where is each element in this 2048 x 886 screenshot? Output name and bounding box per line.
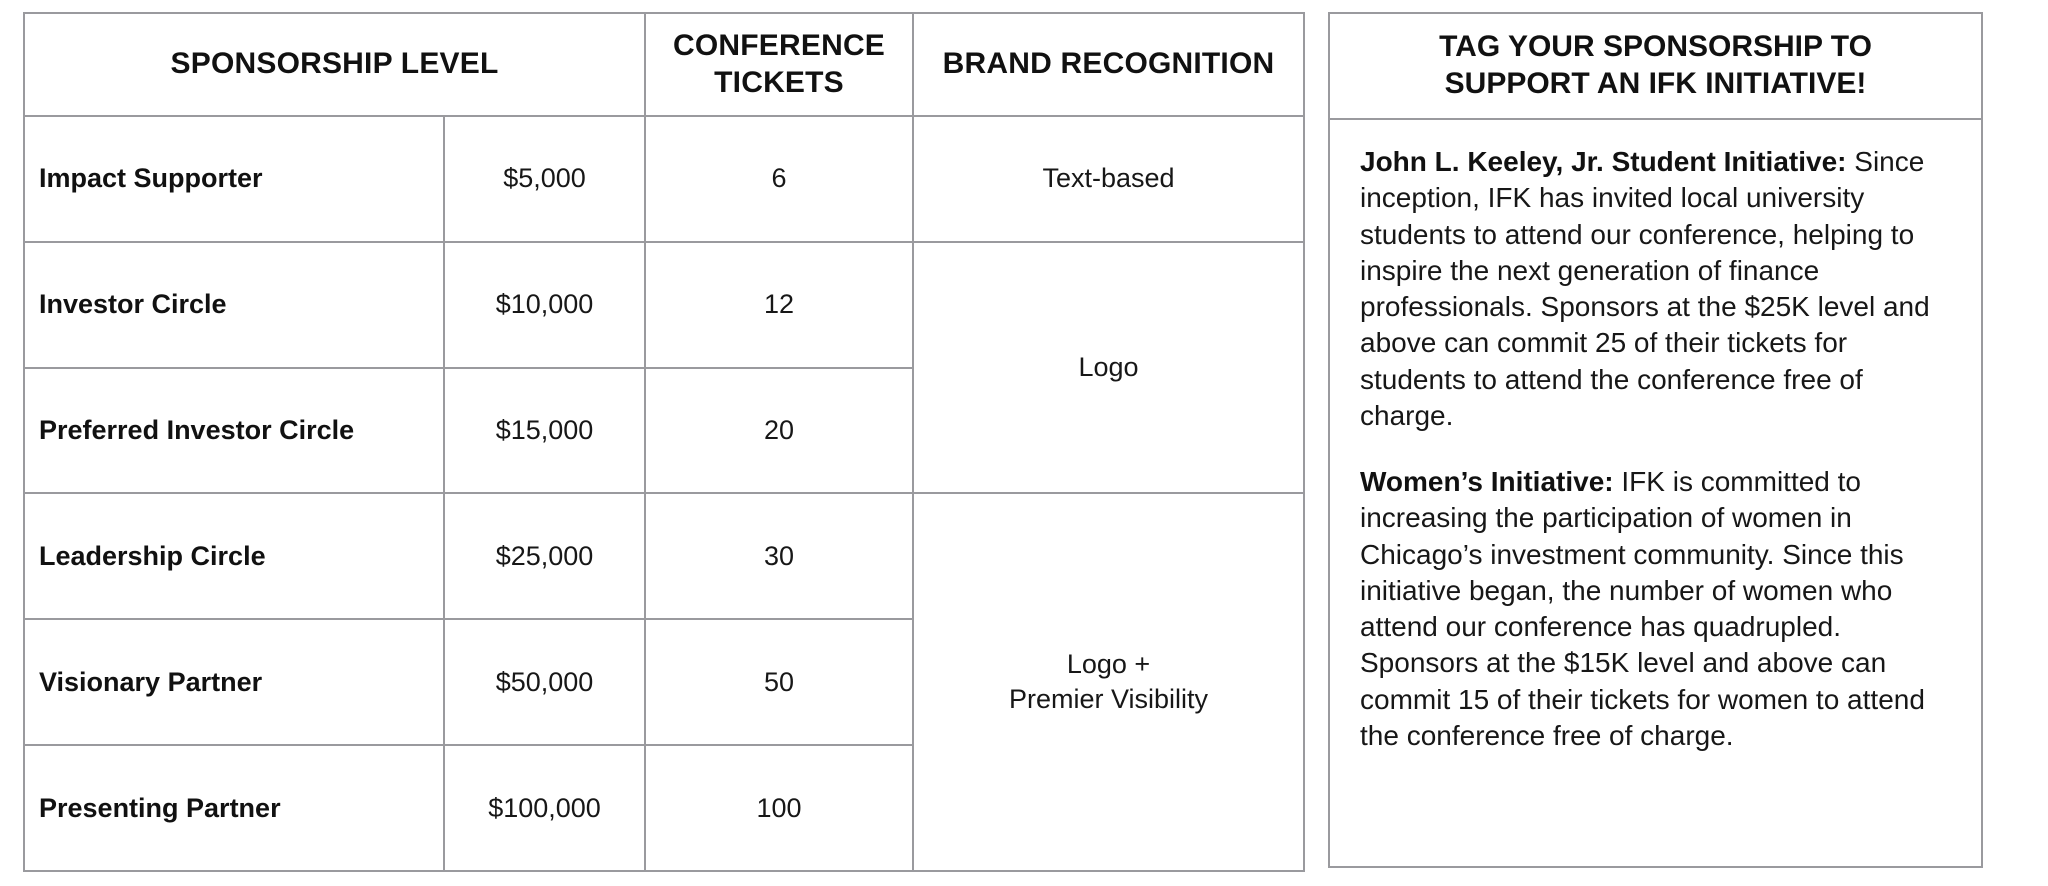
cell-sponsorship-amount: $10,000 <box>444 242 645 368</box>
cell-sponsorship-level: Impact Supporter <box>24 116 444 242</box>
cell-sponsorship-amount: $50,000 <box>444 619 645 745</box>
cell-conference-tickets: 6 <box>645 116 913 242</box>
column-header-sponsorship-level: SPONSORSHIP LEVEL <box>24 13 645 116</box>
cell-sponsorship-level: Investor Circle <box>24 242 444 368</box>
initiative-panel-header: TAG YOUR SPONSORSHIP TO SUPPORT AN IFK I… <box>1330 14 1981 120</box>
initiative-paragraph-keeley-student: John L. Keeley, Jr. Student Initiative: … <box>1360 144 1951 434</box>
table-row: Leadership Circle $25,000 30 Logo + Prem… <box>24 493 1304 619</box>
initiative-body-womens: IFK is committed to increasing the parti… <box>1360 466 1925 751</box>
cell-sponsorship-level: Leadership Circle <box>24 493 444 619</box>
table-body: Impact Supporter $5,000 6 Text-based Inv… <box>24 116 1304 871</box>
initiative-lead-keeley-student: John L. Keeley, Jr. Student Initiative: <box>1360 146 1846 177</box>
cell-sponsorship-level: Presenting Partner <box>24 745 444 871</box>
initiative-panel-title-line2: SUPPORT AN IFK INITIATIVE! <box>1445 67 1867 100</box>
sponsorship-table-container: SPONSORSHIP LEVEL CONFERENCE TICKETS BRA… <box>23 12 1303 872</box>
cell-sponsorship-amount: $5,000 <box>444 116 645 242</box>
cell-brand-recognition-logo: Logo <box>913 242 1304 494</box>
cell-brand-recognition-logo-premier-visibility: Logo + Premier Visibility <box>913 493 1304 871</box>
cell-conference-tickets: 100 <box>645 745 913 871</box>
sponsorship-levels-page: SPONSORSHIP LEVEL CONFERENCE TICKETS BRA… <box>0 0 2048 886</box>
initiative-panel-title-line1: TAG YOUR SPONSORSHIP TO <box>1439 30 1872 63</box>
brand-recognition-premier-line2: Premier Visibility <box>1009 684 1208 714</box>
cell-conference-tickets: 20 <box>645 368 913 494</box>
table-row: Investor Circle $10,000 12 Logo <box>24 242 1304 368</box>
sponsorship-table: SPONSORSHIP LEVEL CONFERENCE TICKETS BRA… <box>23 12 1305 872</box>
cell-conference-tickets: 12 <box>645 242 913 368</box>
cell-sponsorship-amount: $100,000 <box>444 745 645 871</box>
column-header-conference-tickets: CONFERENCE TICKETS <box>645 13 913 116</box>
cell-conference-tickets: 50 <box>645 619 913 745</box>
cell-sponsorship-level: Visionary Partner <box>24 619 444 745</box>
table-header: SPONSORSHIP LEVEL CONFERENCE TICKETS BRA… <box>24 13 1304 116</box>
table-row: Impact Supporter $5,000 6 Text-based <box>24 116 1304 242</box>
initiative-paragraph-womens: Women’s Initiative: IFK is committed to … <box>1360 464 1951 754</box>
initiative-panel-title: TAG YOUR SPONSORSHIP TO SUPPORT AN IFK I… <box>1439 29 1872 102</box>
column-header-brand-recognition: BRAND RECOGNITION <box>913 13 1304 116</box>
table-header-row: SPONSORSHIP LEVEL CONFERENCE TICKETS BRA… <box>24 13 1304 116</box>
initiative-panel-body: John L. Keeley, Jr. Student Initiative: … <box>1330 120 1981 866</box>
column-header-conference-tickets-line1: CONFERENCE <box>673 29 885 62</box>
column-header-conference-tickets-line2: TICKETS <box>714 66 844 99</box>
initiative-lead-womens: Women’s Initiative: <box>1360 466 1614 497</box>
cell-sponsorship-level: Preferred Investor Circle <box>24 368 444 494</box>
brand-recognition-premier-line1: Logo + <box>1067 649 1150 679</box>
initiative-panel: TAG YOUR SPONSORSHIP TO SUPPORT AN IFK I… <box>1328 12 1983 868</box>
initiative-body-keeley-student: Since inception, IFK has invited local u… <box>1360 146 1930 431</box>
cell-sponsorship-amount: $25,000 <box>444 493 645 619</box>
cell-brand-recognition-text-based: Text-based <box>913 116 1304 242</box>
cell-conference-tickets: 30 <box>645 493 913 619</box>
cell-sponsorship-amount: $15,000 <box>444 368 645 494</box>
